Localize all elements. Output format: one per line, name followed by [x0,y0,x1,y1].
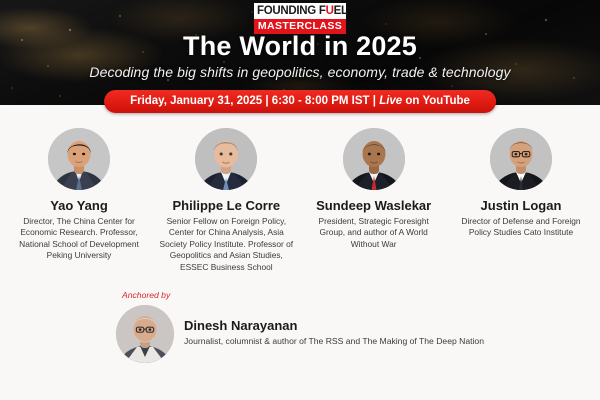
speaker-card: Philippe Le Corre Senior Fellow on Forei… [153,128,299,273]
speaker-card: Yao Yang Director, The China Center for … [6,128,152,273]
speaker-card: Justin Logan Director of Defense and For… [448,128,594,273]
date-banner-text: Friday, January 31, 2025 | 6:30 - 8:00 P… [130,95,379,107]
anchor-details: Dinesh Narayanan Journalist, columnist &… [184,318,484,348]
live-label: Live [379,95,402,107]
logo-masterclass: MASTERCLASS [254,19,346,34]
anchor-photo-dinesh-narayanan [116,305,174,363]
anchor-card: Anchored by [116,303,484,363]
webinar-poster: FOUNDING FUEL MASTERCLASS The World in 2… [0,0,600,400]
speaker-photo-philippe-le-corre [195,128,257,190]
founding-fuel-masterclass-logo: FOUNDING FUEL MASTERCLASS [254,3,346,34]
date-banner-platform: on YouTube [402,95,470,107]
speaker-name: Philippe Le Corre [153,198,299,213]
speaker-title: Director of Defense and Foreign Policy S… [448,216,594,239]
speaker-photo-yao-yang [48,128,110,190]
anchor-title: Journalist, columnist & author of The RS… [184,336,484,348]
anchor-section: Anchored by [0,303,600,363]
date-time-banner: Friday, January 31, 2025 | 6:30 - 8:00 P… [104,90,496,113]
speakers-row: Yao Yang Director, The China Center for … [0,128,600,273]
page-subtitle: Decoding the big shifts in geopolitics, … [0,64,600,80]
speaker-name: Justin Logan [448,198,594,213]
speaker-name: Sundeep Waslekar [301,198,447,213]
page-title: The World in 2025 [0,31,600,62]
speaker-card: Sundeep Waslekar President, Strategic Fo… [301,128,447,273]
anchored-by-label: Anchored by [122,290,170,300]
speaker-photo-justin-logan [490,128,552,190]
anchor-name: Dinesh Narayanan [184,318,484,334]
speaker-title: Director, The China Center for Economic … [6,216,152,262]
speaker-name: Yao Yang [6,198,152,213]
speaker-photo-sundeep-waslekar [343,128,405,190]
logo-founding-fuel: FOUNDING FUEL [254,3,346,19]
speaker-title: Senior Fellow on Foreign Policy, Center … [153,216,299,273]
speaker-title: President, Strategic Foresight Group, an… [301,216,447,250]
